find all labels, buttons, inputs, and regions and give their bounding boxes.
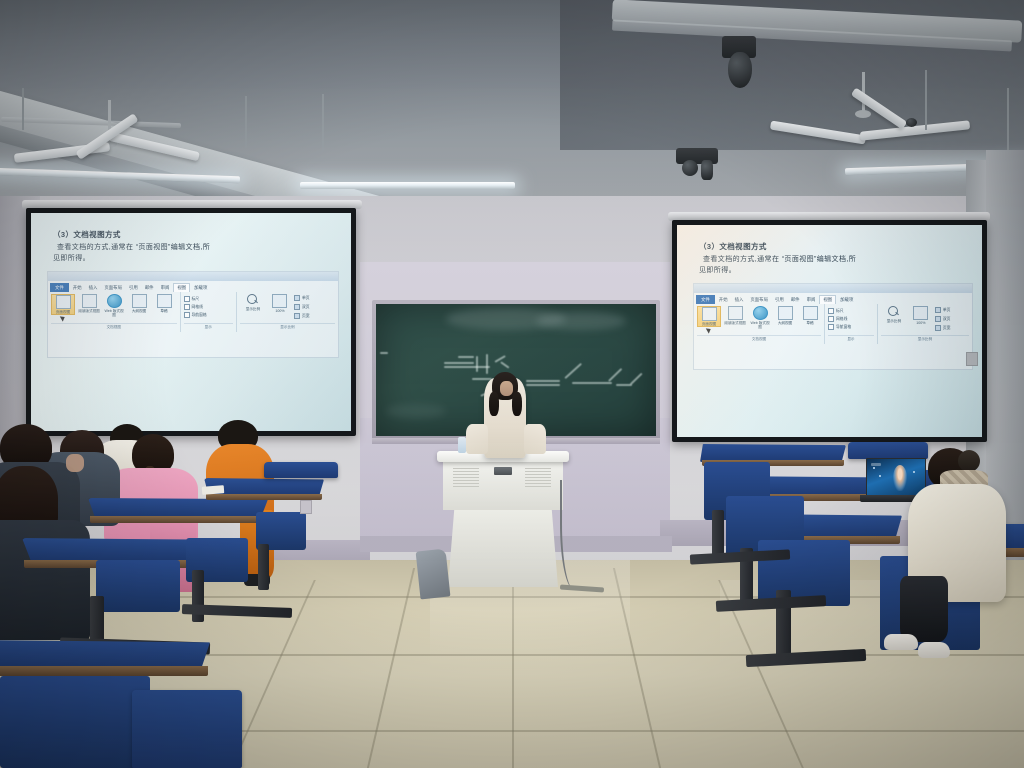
lectern-vent-left xyxy=(453,468,479,488)
seat-left-1[interactable] xyxy=(96,560,180,612)
presenter-collar-right xyxy=(512,392,522,416)
lectern-control-plate[interactable] xyxy=(494,467,512,475)
student-right-shoe-left xyxy=(884,634,918,650)
desk-right-row-1b xyxy=(848,442,928,459)
presenter-arm-left xyxy=(466,424,488,454)
lectern-base xyxy=(448,505,558,587)
ceiling-fan-1 xyxy=(0,120,220,160)
paper-on-desk xyxy=(202,485,225,495)
right-projection-screen[interactable]: （3）文档视图方式 查看文档的方式,通常在 “页面视图”编辑文档,所 见即所得。… xyxy=(672,220,987,442)
ceiling-fan-2 xyxy=(760,96,1020,146)
student-dark-coat-2 xyxy=(0,520,90,640)
lectern-body xyxy=(443,460,563,510)
student-right-legs xyxy=(900,576,948,642)
desk-left-row-0 xyxy=(264,462,338,478)
right-screen-glare xyxy=(677,225,982,437)
presenter-arm-right xyxy=(524,424,546,454)
wall-outlet[interactable] xyxy=(300,500,312,514)
student-right-hair-bun xyxy=(958,450,980,472)
camera-body xyxy=(701,160,713,180)
umbrella-on-floor xyxy=(416,549,451,600)
left-projection-screen[interactable]: （3）文档视图方式 查看文档的方式,通常在 “页面视图”编辑文档,所 见即所得。… xyxy=(26,208,356,436)
student-hand xyxy=(66,454,84,472)
classroom-photo-scene: （3）文档视图方式 查看文档的方式,通常在 “页面视图”编辑文档,所 见即所得。… xyxy=(0,0,1024,768)
fan-hanger-a xyxy=(22,88,24,130)
fan-hanger-d xyxy=(925,70,927,130)
desk-left-row-1 xyxy=(88,498,268,518)
ceiling-sensor-icon xyxy=(906,118,917,127)
left-screen-glare xyxy=(31,213,351,431)
student-right-shoe-right xyxy=(918,642,950,658)
light-tube-2 xyxy=(300,182,515,189)
fan-hanger-e xyxy=(1007,88,1009,158)
desk-edge-left-3 xyxy=(0,666,208,676)
desk-left-row-2 xyxy=(22,538,208,562)
projector-lens xyxy=(728,52,752,88)
laptop-wallpaper-character xyxy=(893,465,907,491)
fan-hanger-b xyxy=(245,96,247,148)
desk-edge-left-1 xyxy=(90,516,266,523)
security-camera-icon xyxy=(682,160,698,176)
seat-leg-left-3 xyxy=(258,544,269,590)
fan-hanger-c xyxy=(322,94,324,152)
seat-left-4[interactable] xyxy=(0,676,150,768)
wall-switch[interactable] xyxy=(966,352,978,366)
presenter-face xyxy=(500,381,513,396)
water-bottle xyxy=(458,437,466,453)
lectern-vent-right xyxy=(525,468,551,488)
presenter-collar-left xyxy=(489,392,499,416)
desk-left-foreground xyxy=(132,690,242,768)
